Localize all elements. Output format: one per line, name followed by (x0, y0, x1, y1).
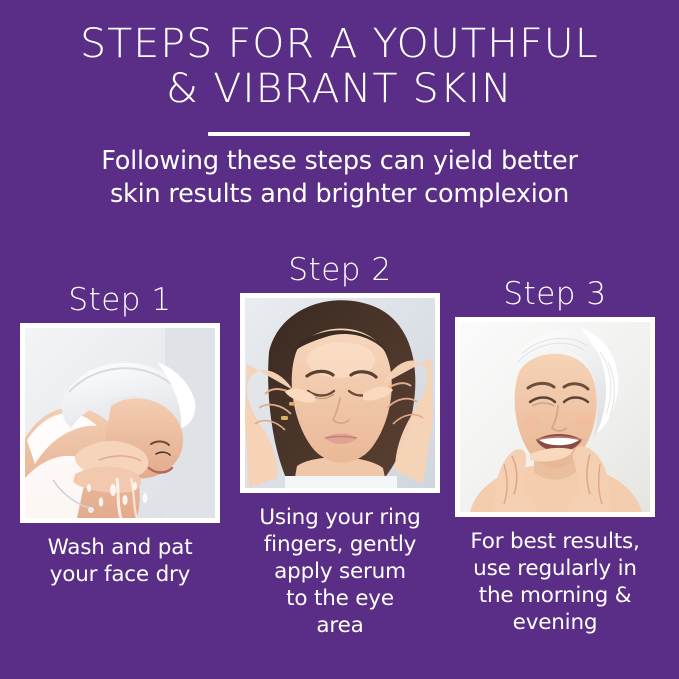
subtitle-line-2: skin results and brighter complexion (0, 178, 679, 211)
step-photo-frame-3 (455, 317, 655, 517)
step-caption-2: Using your ring fingers, gently apply se… (232, 504, 448, 639)
step-photo-1 (25, 328, 215, 518)
caption-1-line-1: Wash and pat (10, 534, 230, 561)
caption-3-line-3: the morning & (447, 582, 663, 609)
step-photo-2 (245, 298, 435, 488)
step-label-1: Step 1 (10, 283, 230, 317)
step-label-2: Step 2 (232, 253, 448, 287)
step-card-2: Step 2 (232, 253, 448, 639)
step-photo-frame-2 (240, 293, 440, 493)
caption-2-line-2: fingers, gently (232, 531, 448, 558)
caption-2-line-5: area (232, 612, 448, 639)
caption-2-line-1: Using your ring (232, 504, 448, 531)
subtitle: Following these steps can yield better s… (0, 145, 679, 211)
infographic-canvas: STEPS FOR A YOUTHFUL & VIBRANT SKIN Foll… (0, 0, 679, 679)
title-line-1: STEPS FOR A YOUTHFUL (0, 22, 679, 67)
step-label-3: Step 3 (447, 277, 663, 311)
steps-container: Step 1 (0, 240, 679, 660)
caption-3-line-2: use regularly in (447, 555, 663, 582)
step-photo-frame-1 (20, 323, 220, 523)
caption-2-line-4: to the eye (232, 585, 448, 612)
caption-1-line-2: your face dry (10, 561, 230, 588)
step-card-3: Step 3 (447, 277, 663, 636)
step-card-1: Step 1 (10, 283, 230, 588)
subtitle-line-1: Following these steps can yield better (0, 145, 679, 178)
step-photo-3 (460, 322, 650, 512)
caption-3-line-4: evening (447, 609, 663, 636)
title-line-2: & VIBRANT SKIN (0, 67, 679, 112)
title-divider (208, 132, 470, 136)
step-caption-1: Wash and pat your face dry (10, 534, 230, 588)
step-caption-3: For best results, use regularly in the m… (447, 528, 663, 636)
page-title: STEPS FOR A YOUTHFUL & VIBRANT SKIN (0, 22, 679, 112)
caption-3-line-1: For best results, (447, 528, 663, 555)
caption-2-line-3: apply serum (232, 558, 448, 585)
